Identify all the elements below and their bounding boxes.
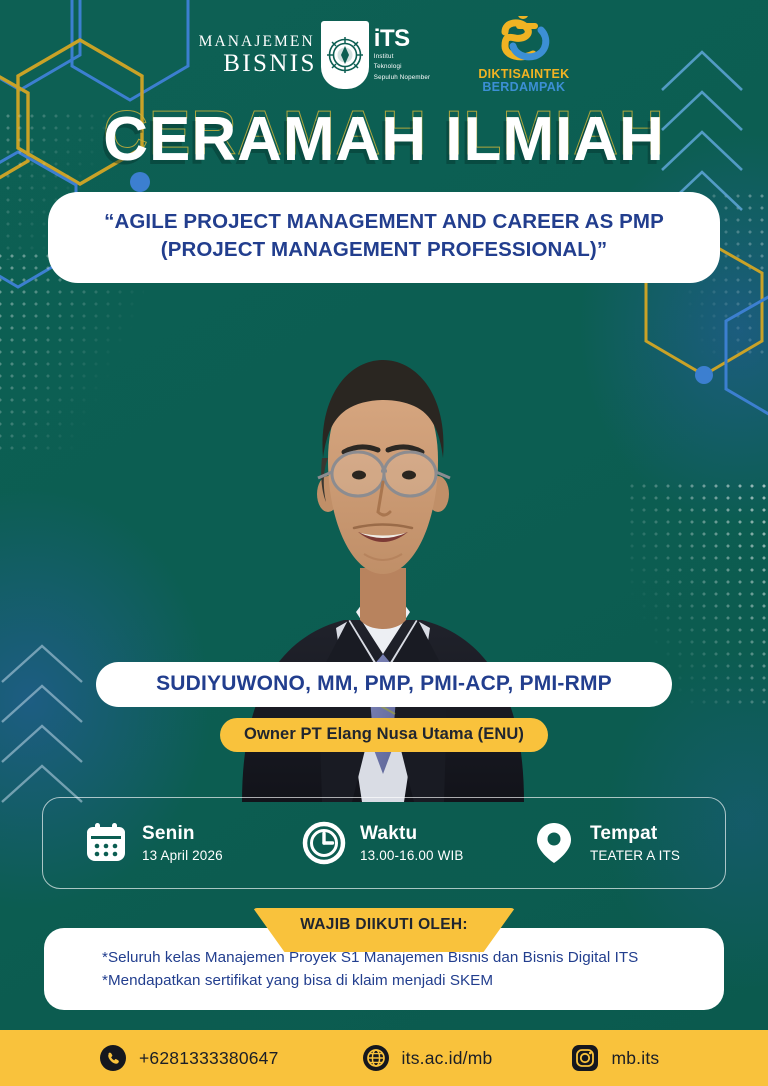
info-text-date: Senin 13 April 2026 bbox=[142, 823, 223, 863]
phone-icon bbox=[100, 1045, 126, 1071]
info-text-time: Waktu 13.00-16.00 WIB bbox=[360, 823, 464, 863]
diktisaintek-line1: DIKTISAINTEK bbox=[478, 68, 569, 81]
its-gear-emblem-icon bbox=[325, 33, 365, 77]
footer-item-phone[interactable]: +6281333380647 bbox=[100, 1045, 279, 1071]
info-item-venue: Tempat TEATER A ITS bbox=[531, 820, 680, 866]
footer-item-website[interactable]: its.ac.id/mb bbox=[363, 1045, 493, 1071]
info-label-time: Waktu bbox=[360, 823, 464, 844]
info-value-date: 13 April 2026 bbox=[142, 848, 223, 863]
wajib-tab: WAJIB DIIKUTI OLEH: bbox=[253, 908, 515, 952]
subtitle-text: “AGILE PROJECT MANAGEMENT AND CAREER AS … bbox=[74, 208, 694, 265]
info-item-time: Waktu 13.00-16.00 WIB bbox=[301, 820, 531, 866]
footer-instagram-text: mb.its bbox=[611, 1048, 659, 1069]
diktisaintek-line2: BERDAMPAK bbox=[478, 81, 569, 94]
its-sub-sepuluh-nopember: Sepuluh Nopember bbox=[374, 74, 431, 83]
manajemen-bisnis-wordmark: MANAJEMEN BISNIS bbox=[199, 34, 317, 76]
speaker-name-pill: SUDIYUWONO, MM, PMP, PMI-ACP, PMI-RMP bbox=[96, 662, 672, 707]
its-sub-teknologi: Teknologi bbox=[374, 63, 431, 72]
speaker-role: Owner PT Elang Nusa Utama (ENU) bbox=[244, 725, 524, 743]
diktisaintek-logo: DIKTISAINTEK BERDAMPAK bbox=[478, 16, 569, 94]
poster-canvas: MANAJEMEN BISNIS bbox=[0, 0, 768, 1086]
manajemen-bisnis-its-logo: MANAJEMEN BISNIS bbox=[199, 21, 431, 89]
globe-icon bbox=[363, 1045, 389, 1071]
its-shield-icon bbox=[321, 21, 369, 89]
info-item-date: Senin 13 April 2026 bbox=[83, 820, 301, 866]
wajib-tab-label: WAJIB DIIKUTI OLEH: bbox=[300, 916, 468, 934]
footer-item-instagram[interactable]: mb.its bbox=[572, 1045, 659, 1071]
its-sub-institut: Institut bbox=[374, 53, 431, 62]
its-acronym: iTS bbox=[374, 27, 431, 51]
info-label-date: Senin bbox=[142, 823, 223, 844]
diktisaintek-wordmark: DIKTISAINTEK BERDAMPAK bbox=[478, 68, 569, 94]
location-pin-icon bbox=[531, 820, 577, 866]
wajib-line-2: *Mendapatkan sertifikat yang bisa di kla… bbox=[102, 969, 724, 992]
speaker-name: SUDIYUWONO, MM, PMP, PMI-ACP, PMI-RMP bbox=[156, 672, 612, 695]
info-value-time: 13.00-16.00 WIB bbox=[360, 848, 464, 863]
calendar-icon bbox=[83, 820, 129, 866]
info-text-venue: Tempat TEATER A ITS bbox=[590, 823, 680, 863]
its-wordmark: iTS Institut Teknologi Sepuluh Nopember bbox=[374, 27, 431, 83]
speaker-role-pill: Owner PT Elang Nusa Utama (ENU) bbox=[220, 718, 548, 752]
footer-website-text: its.ac.id/mb bbox=[402, 1048, 493, 1069]
its-logo-block: iTS Institut Teknologi Sepuluh Nopember bbox=[321, 21, 431, 89]
logo-line-bisnis: BISNIS bbox=[199, 51, 317, 76]
logo-row: MANAJEMEN BISNIS bbox=[0, 16, 768, 94]
clock-icon bbox=[301, 820, 347, 866]
info-label-venue: Tempat bbox=[590, 823, 680, 844]
footer-phone-text: +6281333380647 bbox=[139, 1048, 279, 1069]
footer-contact-bar: +6281333380647 its.ac.id/mb mb.its bbox=[0, 1030, 768, 1086]
info-value-venue: TEATER A ITS bbox=[590, 848, 680, 863]
event-info-bar: Senin 13 April 2026 Waktu 13.00-16.00 WI… bbox=[42, 797, 726, 889]
instagram-icon bbox=[572, 1045, 598, 1071]
page-title: CERAMAH ILMIAH bbox=[0, 104, 768, 175]
logo-line-manajemen: MANAJEMEN bbox=[199, 34, 317, 50]
diktisaintek-emblem-icon bbox=[493, 16, 555, 62]
subtitle-card: “AGILE PROJECT MANAGEMENT AND CAREER AS … bbox=[48, 192, 720, 283]
